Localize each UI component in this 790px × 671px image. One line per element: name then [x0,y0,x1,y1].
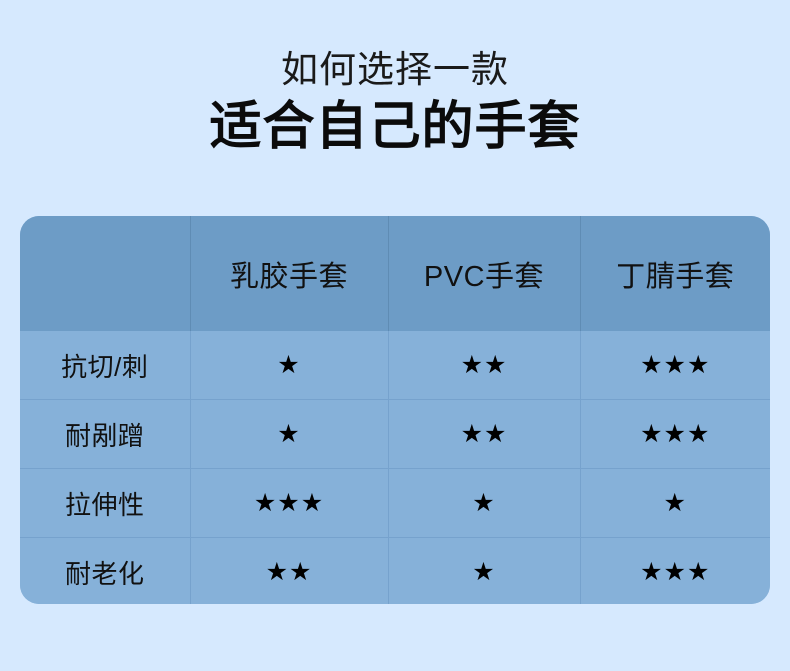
table-header: 乳胶手套 PVC手套 丁腈手套 [20,216,770,331]
star-rating: ★★ [461,353,508,378]
column-header-nitrile-gloves: 丁腈手套 [580,216,770,331]
rating-cell: ★★ [388,400,580,469]
star-rating: ★ [664,491,687,516]
column-header-latex-gloves: 乳胶手套 [190,216,388,331]
table-body: 抗切/刺 ★ ★★ ★★★ 耐剐蹭 ★ ★★ ★★★ 拉伸性 ★★★ ★ ★ 耐… [20,331,770,604]
rating-cell: ★★ [388,331,580,400]
star-rating: ★★ [266,560,313,585]
page-header: 如何选择一款 适合自己的手套 [0,0,790,157]
star-rating: ★ [277,353,300,378]
table-row: 耐剐蹭 ★ ★★ ★★★ [20,400,770,469]
column-header-empty [20,216,190,331]
glove-comparison-table: 乳胶手套 PVC手套 丁腈手套 抗切/刺 ★ ★★ ★★★ 耐剐蹭 ★ ★★ ★… [20,216,770,604]
rating-cell: ★★★ [580,400,770,469]
rating-cell: ★ [580,469,770,538]
row-label-cut-resistance: 抗切/刺 [20,331,190,400]
star-rating: ★★★ [640,560,710,585]
table-row: 拉伸性 ★★★ ★ ★ [20,469,770,538]
star-rating: ★ [277,422,300,447]
star-rating: ★★★ [254,491,324,516]
rating-cell: ★★ [190,538,388,605]
page-subtitle: 如何选择一款 [0,0,790,92]
table-row: 耐老化 ★★ ★ ★★★ [20,538,770,605]
rating-cell: ★★★ [580,331,770,400]
star-rating: ★ [472,560,495,585]
rating-cell: ★ [190,331,388,400]
rating-cell: ★★★ [580,538,770,605]
row-label-aging-resistance: 耐老化 [20,538,190,605]
star-rating: ★★★ [640,353,710,378]
rating-cell: ★ [388,469,580,538]
star-rating: ★★★ [640,422,710,447]
rating-cell: ★ [190,400,388,469]
table-header-row: 乳胶手套 PVC手套 丁腈手套 [20,216,770,331]
row-label-abrasion-resistance: 耐剐蹭 [20,400,190,469]
comparison-table: 乳胶手套 PVC手套 丁腈手套 抗切/刺 ★ ★★ ★★★ 耐剐蹭 ★ ★★ ★… [20,216,770,604]
star-rating: ★★ [461,422,508,447]
rating-cell: ★★★ [190,469,388,538]
star-rating: ★ [472,491,495,516]
row-label-elasticity: 拉伸性 [20,469,190,538]
page-title: 适合自己的手套 [0,92,790,157]
rating-cell: ★ [388,538,580,605]
column-header-pvc-gloves: PVC手套 [388,216,580,331]
table-row: 抗切/刺 ★ ★★ ★★★ [20,331,770,400]
